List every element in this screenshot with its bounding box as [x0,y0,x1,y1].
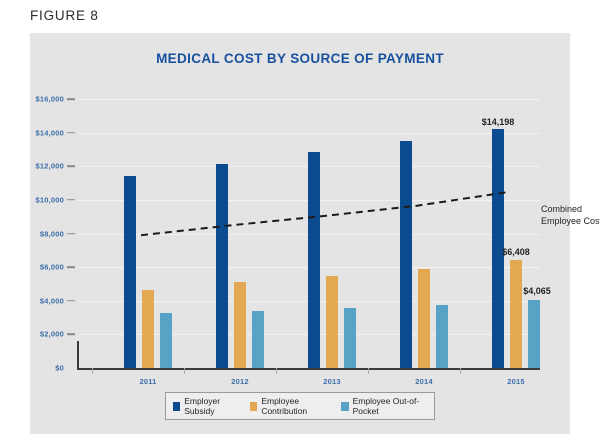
bar-employer-subsidy [400,141,412,368]
bar-employee-contribution [510,260,522,368]
gridline [78,99,540,100]
ytick-mark [67,166,75,168]
ytick-mark [67,300,75,302]
ytick-label: $12,000 [35,162,64,171]
combined-employee-cost-annotation: Combined Employee Cost [541,204,600,227]
xtick-mark [276,368,277,374]
chart-legend: Employer Subsidy Employee Contribution E… [165,392,435,420]
bar-employee-out-of-pocket [528,300,540,368]
bar-value-label: $4,065 [523,286,551,296]
y-axis [77,341,79,369]
ytick-mark [67,233,75,235]
legend-swatch-icon [341,402,348,411]
bar-value-label: $14,198 [482,117,515,127]
bar-employee-out-of-pocket [436,305,448,368]
legend-swatch-icon [250,402,257,411]
figure-label: FIGURE 8 [30,8,99,23]
bar-employer-subsidy [124,176,136,368]
plot-area: $16,000 $14,000 $12,000 $10,000 $8,000 $… [78,99,540,368]
ytick-mark [67,132,75,134]
bar-employer-subsidy [216,164,228,368]
ytick-mark [67,334,75,336]
ytick-mark [67,98,75,100]
chart-title: MEDICAL COST BY SOURCE OF PAYMENT [30,51,570,66]
ytick-label: $8,000 [40,229,64,238]
legend-label: Employee Out-of-Pocket [353,396,427,416]
annotation-line-2: Employee Cost [541,216,600,228]
legend-swatch-icon [173,402,180,411]
ytick-label: $2,000 [40,330,64,339]
ytick-label: $4,000 [40,296,64,305]
annotation-line-1: Combined [541,204,600,216]
bar-employee-contribution [326,276,338,369]
xtick-mark [368,368,369,374]
ytick-label: $0 [55,364,64,373]
bar-employee-out-of-pocket [160,313,172,368]
xtick-label: 2015 [507,377,525,386]
ytick-label: $14,000 [35,128,64,137]
bar-employee-contribution [234,282,246,368]
xtick-label: 2014 [415,377,433,386]
bar-value-label: $6,408 [502,247,530,257]
ytick-label: $6,000 [40,263,64,272]
bar-employee-contribution [418,269,430,368]
xtick-mark [460,368,461,374]
ytick-mark [67,266,75,268]
legend-item-employer-subsidy[interactable]: Employer Subsidy [173,396,239,416]
ytick-label: $10,000 [35,195,64,204]
bar-employee-out-of-pocket [344,308,356,368]
xtick-mark [92,368,93,374]
legend-item-employee-contribution[interactable]: Employee Contribution [250,396,330,416]
bar-employer-subsidy [308,152,320,368]
chart-card: MEDICAL COST BY SOURCE OF PAYMENT $16,00… [30,33,570,434]
ytick-label: $16,000 [35,95,64,104]
ytick-mark [67,199,75,201]
xtick-label: 2011 [139,377,156,386]
bar-employee-out-of-pocket [252,311,264,368]
gridline [78,133,540,134]
legend-item-employee-out-of-pocket[interactable]: Employee Out-of-Pocket [341,396,427,416]
xtick-label: 2012 [231,377,249,386]
legend-label: Employer Subsidy [184,396,239,416]
xtick-mark [184,368,185,374]
xtick-label: 2013 [323,377,341,386]
bar-employee-contribution [142,290,154,368]
legend-label: Employee Contribution [261,396,330,416]
